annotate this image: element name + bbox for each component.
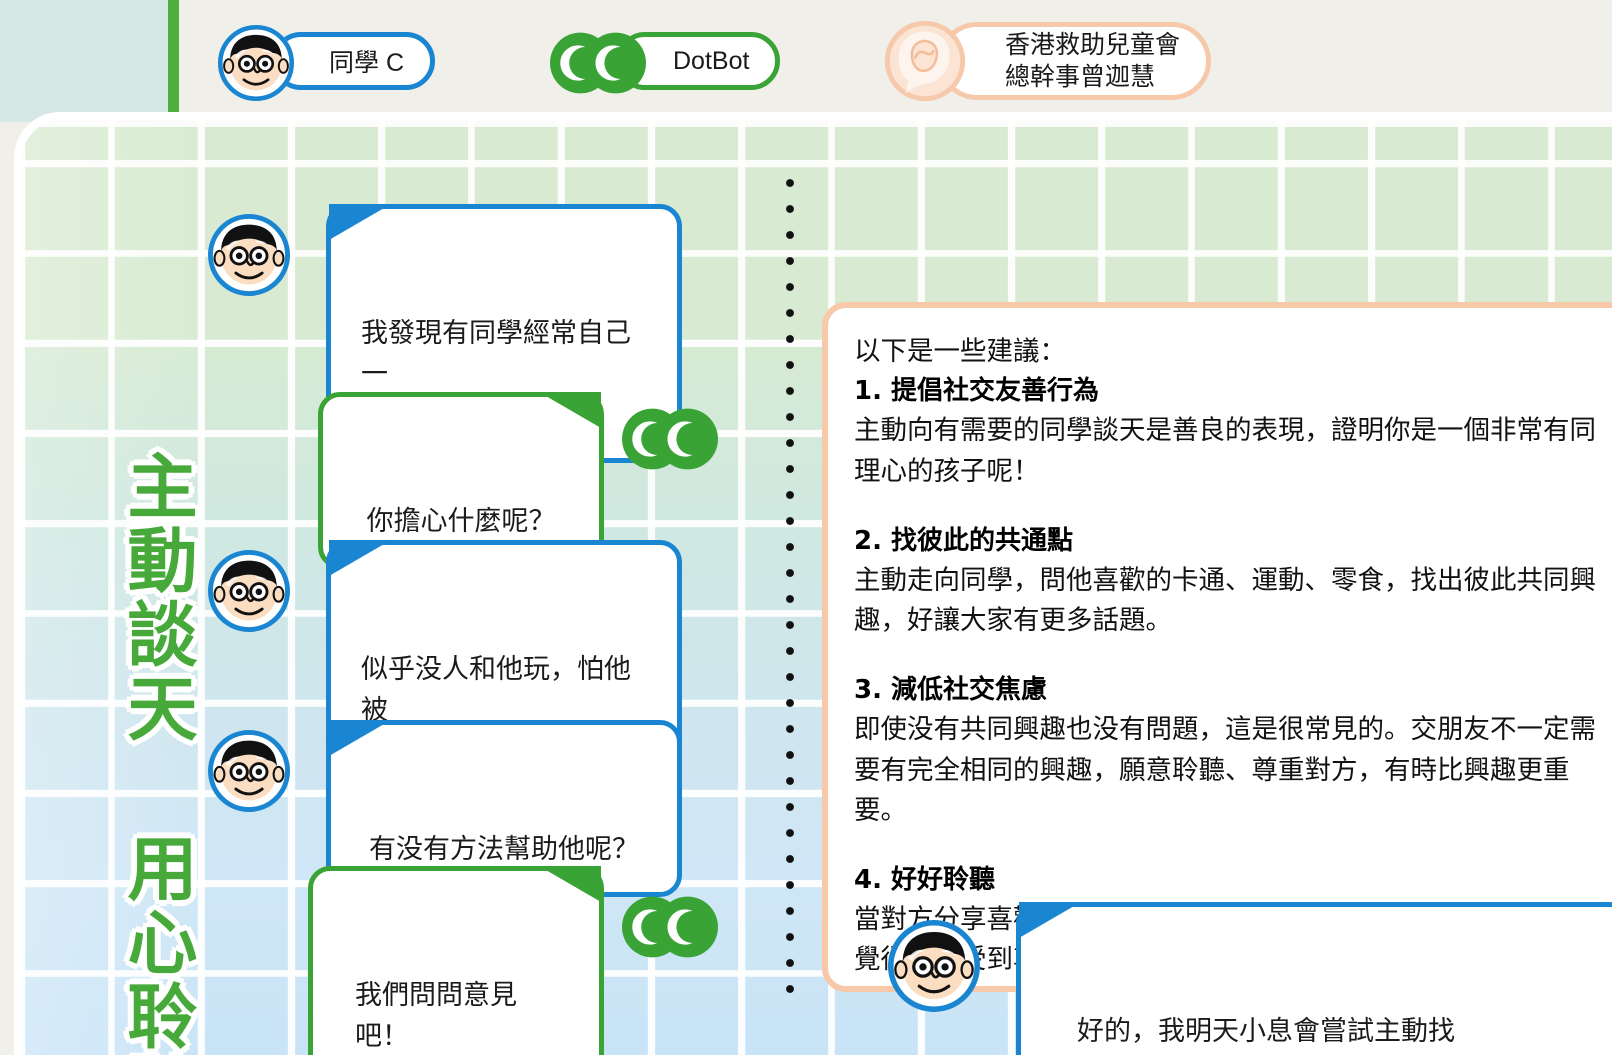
legend-item-expert[interactable]: 香港救助兒童會 總幹事曾迦慧 [938, 22, 1211, 100]
legend-label-dotbot: DotBot [673, 47, 749, 76]
advice-panel: 以下是一些建議： 1. 提倡社交友善行為 主動向有需要的同學談天是善良的表現，證… [822, 302, 1612, 992]
advice-text-1: 主動向有需要的同學談天是善良的表現，證明你是一個非常有同理心的孩子呢！ [854, 411, 1612, 492]
chat-bubble-text: 我們問問意見吧！ 連線中⋯⋯ [355, 980, 517, 1055]
spacer [854, 641, 1612, 671]
chat-bubble-text: 你擔心什麼呢？ [367, 506, 556, 537]
chat-bubble[interactable]: 我們問問意見吧！ 連線中⋯⋯ [308, 866, 604, 1055]
dotted-divider [785, 178, 795, 1010]
board-background: 主動談天 用心聆聽 [22, 120, 1612, 1055]
advice-intro: 以下是一些建議： [854, 332, 1612, 372]
bubble-tail-icon [329, 720, 391, 756]
chat-message-student-4: 好的，我明天小息會嘗試主動找 他聊天。謝謝啊！ [888, 902, 1612, 1055]
legend-label-student: 同學 C [329, 43, 404, 79]
dotbot-logo-icon [622, 886, 718, 968]
boy-avatar-icon [208, 730, 290, 812]
advice-text-2: 主動走向同學，問他喜歡的卡通、運動、零食，找出彼此共同興趣，好讓大家有更多話題。 [854, 561, 1612, 642]
spacer [854, 492, 1612, 522]
advice-heading-2: 2. 找彼此的共通點 [854, 522, 1612, 561]
chat-message-dotbot-2: 我們問問意見吧！ 連線中⋯⋯ [308, 866, 718, 1055]
bubble-tail-icon [539, 866, 601, 902]
bubble-tail-icon [329, 540, 391, 576]
boy-avatar-icon [208, 214, 290, 296]
advice-body: 以下是一些建議： 1. 提倡社交友善行為 主動向有需要的同學談天是善良的表現，證… [854, 332, 1612, 992]
bubble-tail-icon [539, 392, 601, 428]
person-speech-icon [884, 20, 966, 102]
advice-heading-3: 3. 減低社交焦慮 [854, 671, 1612, 710]
chat-bubble-text: 好的，我明天小息會嘗試主動找 他聊天。謝謝啊！ [1077, 1016, 1455, 1055]
chat-bubble[interactable]: 好的，我明天小息會嘗試主動找 他聊天。謝謝啊！ [1016, 902, 1612, 1055]
bubble-tail-icon [1019, 902, 1081, 938]
advice-heading-4: 4. 好好聆聽 [854, 861, 1612, 900]
header-bar: 同學 C [0, 0, 1612, 122]
chat-bubble-text: 有没有方法幫助他呢？ [369, 834, 639, 865]
boy-avatar-icon [888, 920, 980, 1012]
spacer [854, 831, 1612, 861]
main-board: 主動談天 用心聆聽 [14, 112, 1612, 1055]
legend-label-expert-line1: 香港救助兒童會 [1005, 29, 1180, 61]
page-title: 主動談天 用心聆聽 [100, 450, 192, 1055]
dotbot-logo-icon [622, 398, 718, 480]
bubble-tail-icon [329, 204, 391, 240]
boy-avatar-icon [208, 550, 290, 632]
advice-text-3: 即使没有共同興趣也没有問題，這是很常見的。交朋友不一定需要有完全相同的興趣，願意… [854, 710, 1612, 831]
header-green-accent-bar [168, 0, 179, 122]
legend-label-expert-line2: 總幹事曾迦慧 [1005, 61, 1180, 93]
dotbot-logo-icon [550, 22, 646, 104]
legend-item-student[interactable]: 同學 C [272, 32, 435, 90]
legend: 同學 C [0, 0, 76, 122]
boy-avatar-icon [218, 25, 294, 101]
advice-heading-1: 1. 提倡社交友善行為 [854, 372, 1612, 411]
